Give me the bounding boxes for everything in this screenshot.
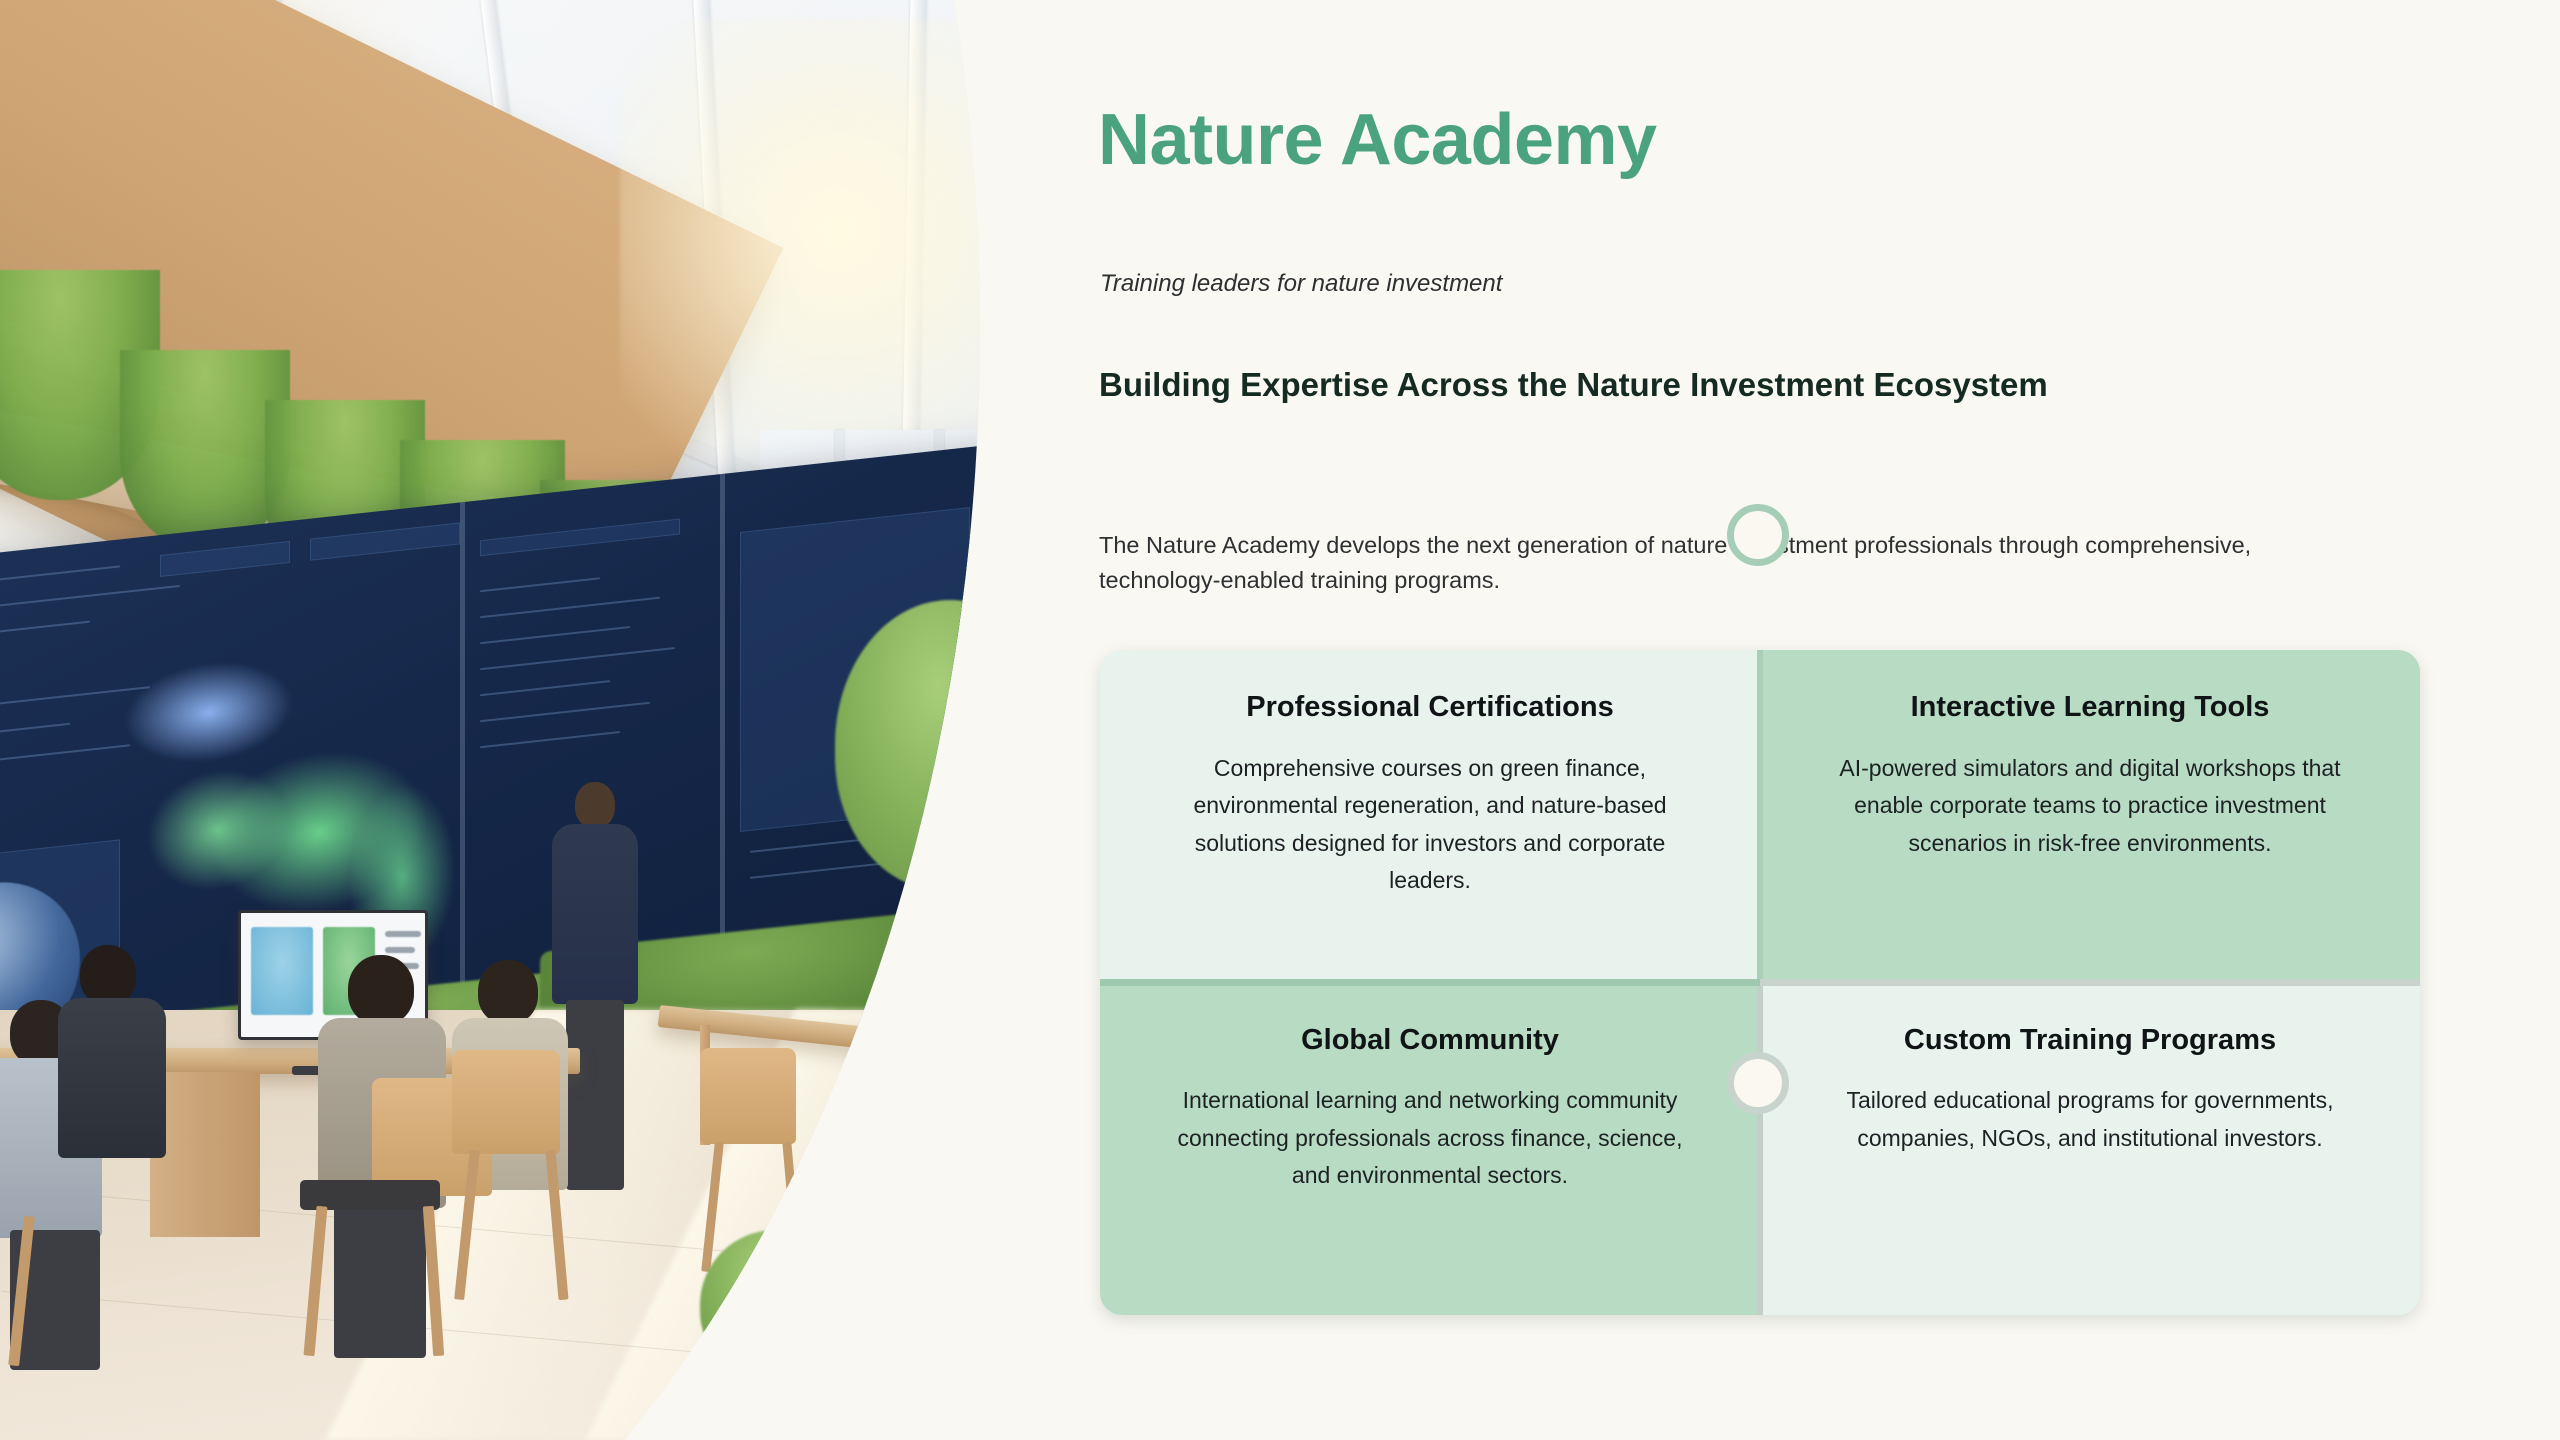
vertical-divider-bottom	[1757, 986, 1763, 1315]
tree-trunk	[935, 840, 944, 1070]
section-heading: Building Expertise Across the Nature Inv…	[1099, 368, 2048, 401]
page-title: Nature Academy	[1098, 104, 1657, 176]
card-title: Interactive Learning Tools	[1911, 692, 2270, 724]
sun-flare	[620, 20, 1010, 490]
card-custom-training-programs[interactable]: Custom Training Programs Tailored educat…	[1760, 983, 2420, 1316]
intro-paragraph: The Nature Academy develops the next gen…	[1099, 528, 2329, 598]
potted-plant	[700, 1230, 850, 1380]
card-body: Comprehensive courses on green finance, …	[1160, 750, 1700, 900]
photo-scene	[0, 0, 1010, 1440]
card-title: Global Community	[1301, 1025, 1559, 1057]
person-head	[575, 782, 615, 828]
card-global-community[interactable]: Global Community International learning …	[1100, 983, 1760, 1316]
card-body: International learning and networking co…	[1160, 1082, 1700, 1194]
content-column: Nature Academy Training leaders for natu…	[1098, 0, 2498, 1440]
card-body: AI-powered simulators and digital worksh…	[1820, 750, 2360, 862]
chair	[452, 1050, 560, 1154]
hero-photo	[0, 0, 1010, 1440]
page-subtitle: Training leaders for nature investment	[1100, 272, 1502, 296]
slide-root: Nature Academy Training leaders for natu…	[0, 0, 2560, 1440]
card-body: Tailored educational programs for govern…	[1820, 1082, 2360, 1157]
card-title: Professional Certifications	[1246, 692, 1613, 724]
person-head	[478, 960, 538, 1024]
plant-pot	[735, 1352, 821, 1440]
horizontal-divider	[1100, 979, 2420, 986]
person-head	[348, 955, 414, 1025]
card-professional-certifications[interactable]: Professional Certifications Comprehensiv…	[1100, 650, 1760, 983]
person-torso	[552, 824, 638, 1004]
feature-cards-grid: Professional Certifications Comprehensiv…	[1100, 650, 2420, 1315]
card-title: Custom Training Programs	[1904, 1025, 2276, 1057]
connector-node-top	[1727, 504, 1789, 566]
chair	[700, 1048, 796, 1144]
person-torso	[58, 998, 166, 1158]
vertical-divider-top	[1757, 650, 1763, 979]
person-head	[80, 945, 136, 1005]
card-interactive-learning-tools[interactable]: Interactive Learning Tools AI-powered si…	[1760, 650, 2420, 983]
connector-node-bottom	[1727, 1052, 1789, 1114]
